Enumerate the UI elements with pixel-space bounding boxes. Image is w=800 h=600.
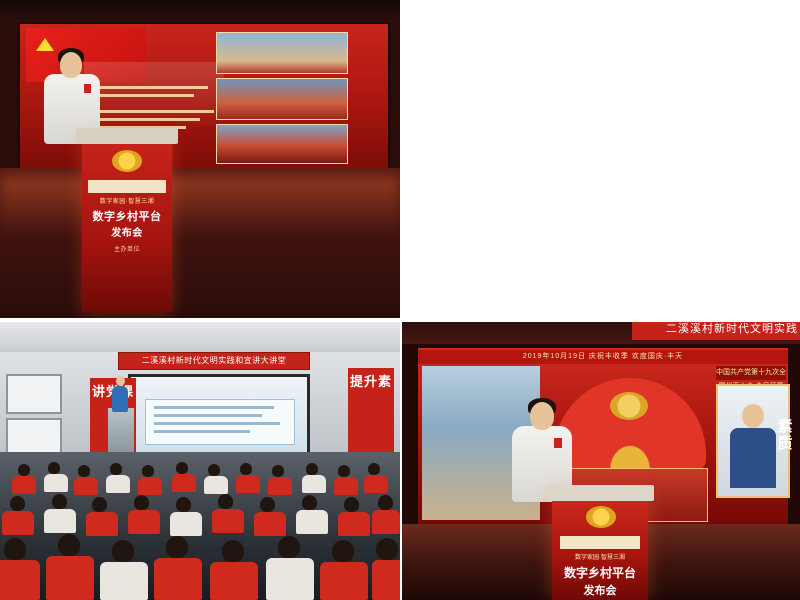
panel-speaker-closeup: 二溪溪村新时代文明实践 2019年10月19日 庆祝丰收季 欢度国庆·丰天 中国… <box>402 322 800 600</box>
attendee-head <box>260 497 275 512</box>
attendee-vest <box>372 560 400 600</box>
attendee-head <box>176 462 188 474</box>
national-emblem-icon <box>610 392 648 420</box>
attendee-head <box>134 495 149 510</box>
attendee-vest <box>364 475 388 493</box>
attendee-vest <box>254 512 286 536</box>
attendee-vest <box>0 560 40 600</box>
attendee-vest <box>128 510 160 534</box>
attendee-vest <box>44 509 76 533</box>
podium-top-label: 数字家园·智慧三湘 <box>82 196 172 205</box>
attendee-head <box>302 495 317 510</box>
attendee-head <box>368 463 380 475</box>
attendee-head <box>112 540 134 562</box>
projection-line <box>154 430 250 433</box>
attendee-vest <box>172 474 196 492</box>
attendee-head <box>52 494 67 509</box>
attendee-head <box>78 465 90 477</box>
projection-line <box>154 422 280 425</box>
attendee-vest <box>138 477 162 495</box>
attendee-vest <box>12 476 36 494</box>
speaker-badge <box>554 438 562 448</box>
attendee-head <box>208 464 220 476</box>
attendee-head <box>18 464 30 476</box>
attendee-head <box>10 496 25 511</box>
screen-text-line <box>90 118 200 121</box>
auditorium-ceiling <box>0 0 400 22</box>
attendee-vest <box>106 475 130 493</box>
hall-banner: 二溪溪村新时代文明实践和宣讲大讲堂 <box>118 352 310 370</box>
national-emblem-icon <box>586 506 616 528</box>
screen-text-line <box>90 94 194 97</box>
led-portrait-label: 中国共产党第十九次全国代表大会 今日开幕 <box>716 366 786 380</box>
attendee-vest <box>338 512 370 536</box>
attendee-vest <box>100 562 148 600</box>
attendee-head <box>4 538 26 560</box>
attendee-head <box>332 540 354 562</box>
attendee-vest <box>170 512 202 536</box>
attendee-head <box>58 534 80 556</box>
podium-band <box>560 536 640 549</box>
attendee-vest <box>154 558 202 600</box>
attendee-head <box>240 463 252 475</box>
attendee-head <box>92 497 107 512</box>
national-emblem-icon <box>112 150 142 172</box>
podium-main-title: 数字乡村平台 <box>82 208 172 224</box>
attendee-vest <box>320 562 368 600</box>
podium-main-title: 数字乡村平台 <box>552 564 648 581</box>
attendee-head <box>176 497 191 512</box>
podium: 数字家园·智慧三湘 数字乡村平台 发布会 主办单位 <box>82 136 172 312</box>
panel-audience-hall: 二溪溪村新时代文明实践和宣讲大讲堂 讲党课 提升素 讲大堂 <box>0 322 400 600</box>
screen-text-line <box>90 110 214 113</box>
panel-speaker-wide: 数字家园·智慧三湘 数字乡村平台 发布会 主办单位 <box>0 0 400 318</box>
portrait-head <box>742 404 764 428</box>
projection-line <box>154 414 262 417</box>
attendee-vest <box>334 477 358 495</box>
attendee-head <box>48 462 60 474</box>
attendee-head <box>378 495 393 510</box>
speaker-head <box>530 402 554 430</box>
podium-top-surface <box>546 485 654 501</box>
projection-screen <box>128 374 310 458</box>
projection-line <box>154 406 274 409</box>
speaker-head <box>60 52 82 78</box>
screen-text-line <box>90 86 208 89</box>
attendee-vest <box>46 556 94 600</box>
screen-photo-thumb <box>216 78 348 120</box>
attendee-head <box>142 465 154 477</box>
attendee-vest <box>302 475 326 493</box>
screen-photo-thumb <box>216 32 348 74</box>
projection-body <box>145 399 295 445</box>
podium-footer-label: 主办单位 <box>82 244 172 253</box>
attendee-vest <box>210 562 258 600</box>
led-topbar-text: 2019年10月19日 庆祝丰收季 欢度国庆·丰天 <box>418 350 788 364</box>
attendee-head <box>272 465 284 477</box>
attendee-head <box>110 463 122 475</box>
audience-crowd <box>0 460 400 600</box>
attendee-head <box>166 536 188 558</box>
lectern <box>108 408 134 452</box>
screen-photo-thumb <box>216 124 348 164</box>
red-fan-emblem-icon <box>554 378 706 470</box>
attendee-vest <box>212 509 244 533</box>
attendee-head <box>338 465 350 477</box>
podium-top-label: 数字家园·智慧三湘 <box>552 552 648 561</box>
stage-light-glow <box>0 176 400 236</box>
wall-poster <box>6 374 62 414</box>
attendee-vest <box>236 475 260 493</box>
attendee-vest <box>296 510 328 534</box>
attendee-vest <box>204 476 228 494</box>
podium: 数字家园·智慧三湘 数字乡村平台 发布会 <box>552 494 648 600</box>
attendee-vest <box>44 474 68 492</box>
attendee-head <box>222 540 244 562</box>
wall-slogan-right: 素质 <box>772 418 798 453</box>
portrait-body <box>730 428 776 488</box>
podium-top-surface <box>76 128 178 144</box>
attendee-vest <box>2 511 34 535</box>
top-banner: 二溪溪村新时代文明实践 <box>632 322 800 340</box>
attendee-vest <box>74 477 98 495</box>
blank-white-area <box>400 0 800 322</box>
attendee-vest <box>268 477 292 495</box>
podium-band <box>88 180 166 193</box>
attendee-vest <box>372 510 400 534</box>
attendee-head <box>344 497 359 512</box>
attendee-head <box>218 494 233 509</box>
attendee-vest <box>266 558 314 600</box>
presenter-figure <box>112 386 128 412</box>
attendee-head <box>376 538 398 560</box>
speaker-badge <box>84 84 91 93</box>
photo-collage: 数字家园·智慧三湘 数字乡村平台 发布会 主办单位 二溪溪村新时代文明实践和宣讲… <box>0 0 800 600</box>
attendee-head <box>278 536 300 558</box>
podium-sub-title: 发布会 <box>82 224 172 239</box>
podium-sub-title: 发布会 <box>552 582 648 598</box>
attendee-head <box>306 463 318 475</box>
hall-ceiling <box>0 322 400 352</box>
attendee-vest <box>86 512 118 536</box>
